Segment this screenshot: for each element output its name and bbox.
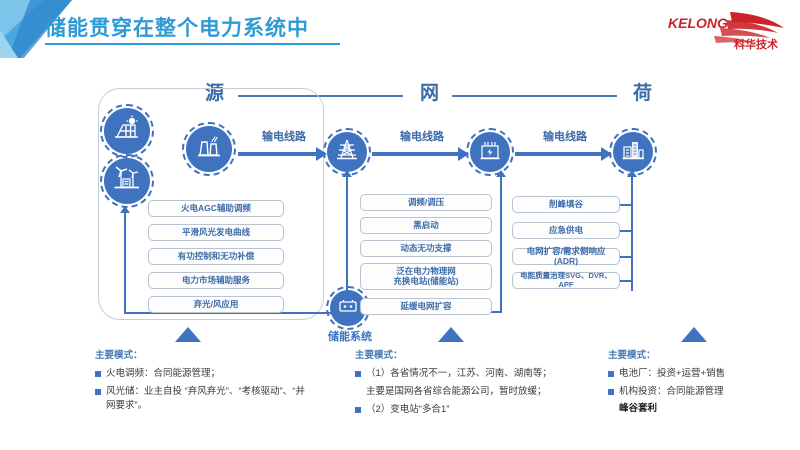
band-line-2 (452, 95, 617, 97)
note-load-item-2: 机构投资：合同能源管理 (608, 385, 793, 400)
pill-source-2[interactable]: 平滑风光发电曲线 (148, 224, 284, 241)
pill-load-4-text: 电能质量治理SVG、DVR、APF (516, 272, 616, 289)
pill-grid-4-text: 泛在电力物理网 充换电站(储能站) (393, 267, 458, 287)
transmission-line-1: 输电线路 (238, 143, 330, 165)
pill-grid-3[interactable]: 动态无功支撑 (360, 240, 492, 257)
arrow-shaft (372, 152, 460, 156)
note-grid-item-2-text: （2）变电站“多合1” (366, 403, 605, 418)
pill-grid-4[interactable]: 泛在电力物理网 充换电站(储能站) (360, 263, 492, 290)
transmission-line-2: 输电线路 (372, 143, 472, 165)
connector-load-h4 (620, 280, 632, 282)
note-load-item-1-text: 电池厂：投资+运营+销售 (619, 367, 793, 382)
bullet-icon (95, 371, 101, 377)
thermal-plant-icon (195, 133, 223, 166)
note-source-item-2-text: 风光储：业主自投 “弃风弃光”、“考核驱动”、“并网要求”。 (106, 385, 310, 414)
city-load-icon (621, 138, 645, 167)
connector-grid-right-arrowhead-icon (496, 170, 506, 177)
node-substation[interactable] (470, 132, 510, 172)
connector-load-h2 (620, 230, 632, 232)
pill-source-5[interactable]: 弃光/风应用 (148, 296, 284, 313)
note-grid-item-1: （1）各省情况不一，江苏、河南、湖南等； (355, 367, 605, 382)
bullet-icon (608, 389, 614, 395)
transmission-line-3: 输电线路 (515, 143, 615, 165)
connector-source-vertical (124, 213, 126, 313)
note-load-subtext: 峰谷套利 (619, 402, 793, 417)
note-grid-item-2: （2）变电站“多合1” (355, 403, 605, 418)
note-grid-subtext: 主要是国网各省综合能源公司，暂时放缓； (366, 385, 605, 400)
pill-source-1[interactable]: 火电AGC辅助调频 (148, 200, 284, 217)
connector-source-arrowhead-icon (120, 206, 130, 213)
pill-source-4[interactable]: 电力市场辅助服务 (148, 272, 284, 289)
note-load-item-1: 电池厂：投资+运营+销售 (608, 367, 793, 382)
note-pointer-triangle-source (175, 327, 201, 342)
arrow-shaft (238, 152, 318, 156)
slide-root: 储能贯穿在整个电力系统中 KELONG 科华技术 源 网 荷 (0, 0, 800, 450)
node-solar[interactable] (104, 108, 150, 154)
pill-load-4[interactable]: 电能质量治理SVG、DVR、APF (512, 272, 620, 289)
page-title: 储能贯穿在整个电力系统中 (45, 12, 309, 42)
battery-icon (337, 295, 359, 322)
transmission-label-1: 输电线路 (262, 128, 306, 144)
connector-load-h3 (620, 256, 632, 258)
note-source-item-1-text: 火电调频：合同能源管理； (106, 367, 310, 382)
bullet-icon (355, 371, 361, 377)
storage-system-label: 储能系统 (310, 328, 390, 344)
arrow-shaft (515, 152, 603, 156)
note-source-item-1: 火电调频：合同能源管理； (95, 367, 310, 382)
note-grid-heading: 主要模式： (355, 347, 605, 361)
solar-plant-icon (113, 115, 141, 148)
transmission-tower-icon (335, 138, 359, 167)
pill-source-3[interactable]: 有功控制和无功补偿 (148, 248, 284, 265)
note-load-item-2-text: 机构投资：合同能源管理 (619, 385, 793, 400)
note-grid: 主要模式： （1）各省情况不一，江苏、河南、湖南等； 主要是国网各省综合能源公司… (355, 347, 605, 421)
title-underline (45, 43, 340, 45)
note-pointer-triangle-grid (438, 327, 464, 342)
bullet-icon (608, 371, 614, 377)
pill-load-3[interactable]: 电网扩容/需求侧响应(ADR) (512, 248, 620, 265)
node-city[interactable] (613, 132, 653, 172)
transmission-label-2: 输电线路 (400, 128, 444, 144)
arrow-head-icon (458, 147, 469, 161)
connector-grid-vertical (346, 176, 348, 296)
connector-grid-arrowhead-icon (342, 170, 352, 177)
node-thermal[interactable] (186, 126, 232, 172)
arrow-head-icon (316, 147, 327, 161)
note-source-item-2: 风光储：业主自投 “弃风弃光”、“考核驱动”、“并网要求”。 (95, 385, 310, 414)
node-tower[interactable] (327, 132, 367, 172)
pill-grid-1[interactable]: 调频/调压 (360, 194, 492, 211)
wind-hydro-plant-icon (113, 165, 141, 198)
note-load-heading: 主要模式： (608, 347, 793, 361)
substation-icon (478, 138, 502, 167)
bullet-icon (95, 389, 101, 395)
note-grid-item-1-text: （1）各省情况不一，江苏、河南、湖南等； (366, 367, 605, 382)
connector-load-arrowhead-icon (627, 170, 637, 177)
connector-grid-right-vertical (500, 176, 502, 313)
pill-load-1[interactable]: 削峰填谷 (512, 196, 620, 213)
note-source-heading: 主要模式： (95, 347, 310, 361)
arrow-head-icon (601, 147, 612, 161)
band-label-load: 荷 (633, 82, 652, 106)
pill-grid-2[interactable]: 黑启动 (360, 217, 492, 234)
note-pointer-triangle-load (681, 327, 707, 342)
transmission-label-3: 输电线路 (543, 128, 587, 144)
pill-load-3-text: 电网扩容/需求侧响应(ADR) (516, 247, 616, 267)
pill-load-2[interactable]: 应急供电 (512, 222, 620, 239)
node-wind[interactable] (104, 158, 150, 204)
bullet-icon (355, 407, 361, 413)
connector-load-vertical (631, 176, 633, 291)
note-source: 主要模式： 火电调频：合同能源管理； 风光储：业主自投 “弃风弃光”、“考核驱动… (95, 347, 310, 417)
pill-grid-5[interactable]: 延缓电网扩容 (360, 298, 492, 315)
brand-logo: KELONG 科华技术 (666, 6, 786, 52)
note-load: 主要模式： 电池厂：投资+运营+销售 机构投资：合同能源管理 峰谷套利 (608, 347, 793, 417)
svg-text:KELONG: KELONG (668, 15, 728, 31)
svg-text:科华技术: 科华技术 (734, 37, 778, 51)
band-label-grid: 网 (420, 82, 439, 106)
connector-load-h1 (620, 204, 632, 206)
